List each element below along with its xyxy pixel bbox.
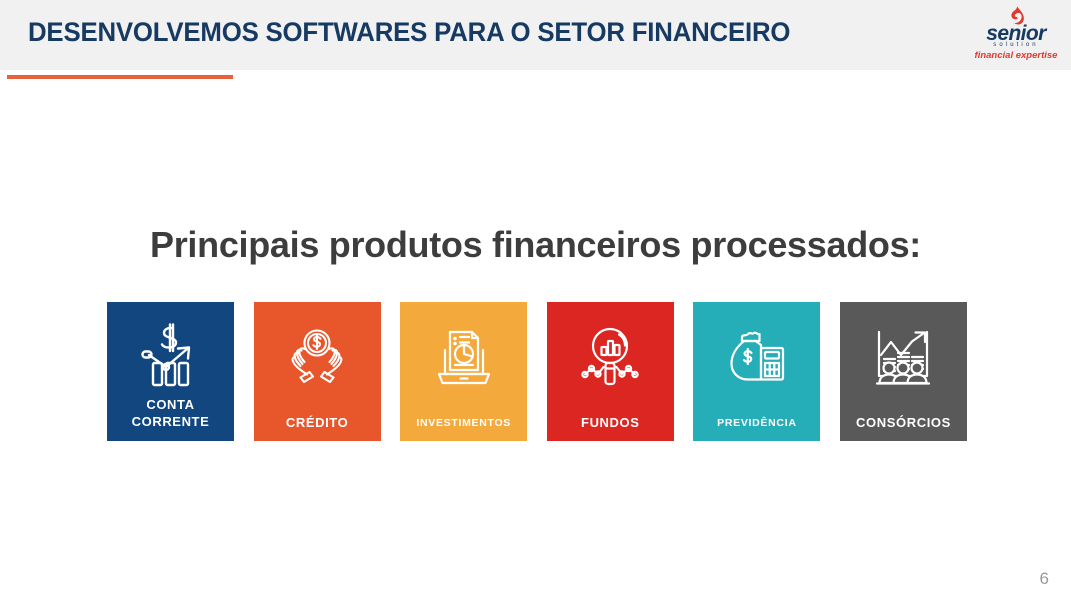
product-tile-fundos[interactable]: FUNDOS xyxy=(547,302,674,441)
magnifier-bar-chart-icon xyxy=(574,322,646,394)
tile-label-line-1: CONTA xyxy=(146,397,194,412)
product-tile-investimentos[interactable]: INVESTIMENTOS xyxy=(400,302,527,441)
tile-label: INVESTIMENTOS xyxy=(400,415,527,431)
tile-label: PREVIDÊNCIA xyxy=(693,415,820,431)
tile-label: CONSÓRCIOS xyxy=(840,415,967,431)
logo-tagline: financial expertise xyxy=(968,50,1064,61)
product-tile-consorcios[interactable]: CONSÓRCIOS xyxy=(840,302,967,441)
product-tile-previdencia[interactable]: PREVIDÊNCIA xyxy=(693,302,820,441)
money-bag-calculator-icon xyxy=(721,322,793,394)
product-tile-conta-corrente[interactable]: CONTA CORRENTE xyxy=(107,302,234,441)
product-tile-credito[interactable]: CRÉDITO xyxy=(254,302,381,441)
logo-wordmark: senior xyxy=(968,23,1064,44)
tile-label: CRÉDITO xyxy=(254,415,381,431)
logo-subtitle: solution xyxy=(968,42,1064,49)
dollar-bar-chart-growth-icon xyxy=(135,322,207,394)
laptop-document-pie-chart-icon xyxy=(428,322,500,394)
tile-label: CONTA CORRENTE xyxy=(107,396,234,430)
page-number: 6 xyxy=(1040,569,1049,589)
product-tiles-row: CONTA CORRENTE xyxy=(107,302,967,441)
senior-solution-logo: senior solution financial expertise xyxy=(968,6,1064,64)
hands-holding-coin-icon xyxy=(281,322,353,394)
chart-board-people-icon xyxy=(867,322,939,394)
accent-rule xyxy=(7,75,233,79)
slide-canvas: DESENVOLVEMOS SOFTWARES PARA O SETOR FIN… xyxy=(0,0,1071,599)
page-title: DESENVOLVEMOS SOFTWARES PARA O SETOR FIN… xyxy=(28,17,790,48)
section-title: Principais produtos financeiros processa… xyxy=(0,224,1071,266)
tile-label: FUNDOS xyxy=(547,415,674,431)
tile-label-line-2: CORRENTE xyxy=(132,414,210,429)
